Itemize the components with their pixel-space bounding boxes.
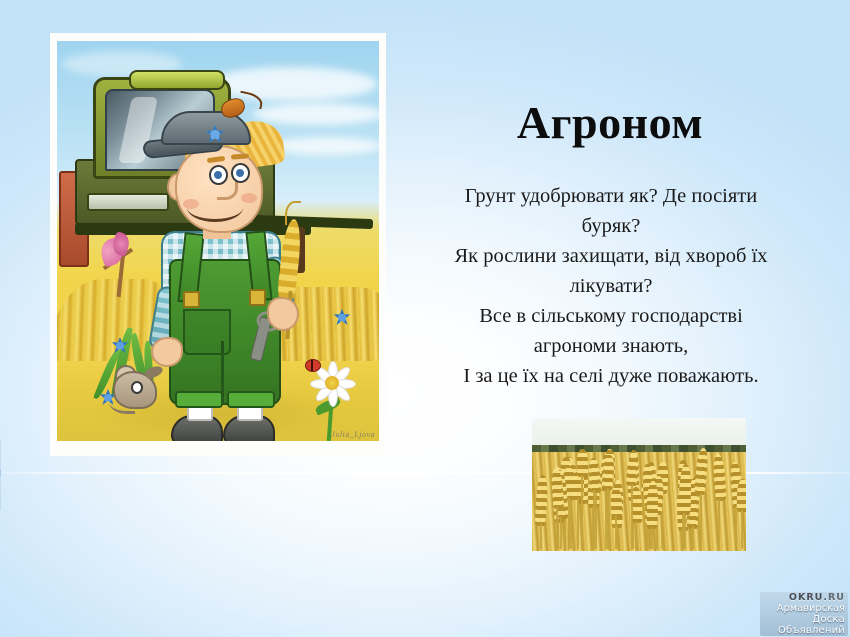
watermark-brand-main: OKRU [789, 592, 823, 603]
slide-canvas: Julia_Ljova Агроном Грунт удобрювати як?… [0, 0, 850, 637]
farmer-pocket [183, 309, 231, 355]
wheat-stem [718, 499, 720, 549]
poem-line: І за це їх на селі дуже поважають. [403, 361, 819, 391]
wheat-ear-icon [737, 479, 746, 512]
wheat-stem [568, 498, 570, 549]
mouse-eye [131, 381, 143, 394]
harvester-vent [87, 193, 169, 211]
illustration-canvas: Julia_Ljova [57, 41, 379, 441]
ladybug-icon [305, 359, 321, 372]
wheat-stem [700, 493, 702, 549]
farmer-eye-right [231, 163, 250, 183]
wheat-ear-icon [646, 481, 658, 529]
wheat-field-photo [532, 418, 746, 551]
poem-line: Як рослини захищати, від хвороб їх [403, 241, 819, 271]
wheat-stem [560, 517, 562, 549]
poem-text: Грунт удобрювати як? Де посіяти буряк? Я… [403, 181, 819, 391]
cloud-icon [253, 103, 379, 125]
page-title: Агроном [400, 96, 820, 150]
farmer-cheek-right [241, 193, 257, 203]
agronomist-illustration: Julia_Ljova [50, 33, 386, 456]
watermark: OKRU.RU Армавирская Доска Объявлений [760, 592, 848, 636]
farmer-buckle-right [249, 289, 266, 306]
poem-line: Все в сільському господарстві [403, 301, 819, 331]
poem-line: Грунт удобрювати як? Де посіяти [403, 181, 819, 211]
wheat-stem [577, 498, 579, 549]
wheat-stem [593, 490, 595, 549]
wheat-stem [556, 507, 558, 549]
farmer-cuff-left [175, 391, 223, 408]
wheat-stem [651, 527, 653, 549]
wheat-ear-icon [577, 449, 588, 477]
wheat-stem [741, 510, 743, 549]
wheat-stem [683, 513, 685, 549]
artist-signature: Julia_Ljova [331, 430, 375, 439]
wheat-stem [631, 484, 633, 549]
watermark-brand: OKRU.RU [760, 592, 845, 603]
farmer-eye-left [209, 165, 228, 185]
farmer-hand-right [267, 297, 299, 331]
wheat-stem [540, 524, 542, 549]
wheat-stem [692, 526, 694, 549]
divider-tick [0, 470, 7, 476]
watermark-city: Армавирская [760, 603, 845, 614]
farmer-cuff-right [227, 391, 275, 408]
poem-line: агрономи знають, [403, 331, 819, 361]
farmer-smile [187, 193, 243, 222]
farmer-buckle-left [183, 291, 200, 308]
poem-line: лікувати? [403, 271, 819, 301]
cloud-icon [207, 67, 377, 101]
farmer-cap [161, 111, 251, 145]
wheat-stem [615, 516, 617, 549]
harvester-roof [129, 70, 225, 90]
wheat-ear-icon [679, 473, 691, 515]
watermark-tagline: Доска Объявлений [760, 614, 845, 636]
wheat-stem [581, 475, 583, 549]
cloud-icon [272, 137, 379, 155]
wheat-stem [607, 488, 609, 549]
poem-line: буряк? [403, 211, 819, 241]
wheat-stem [595, 491, 597, 549]
farmer-hand-left [151, 337, 183, 367]
watermark-brand-suffix: .RU [823, 592, 845, 603]
wheat-stem [735, 506, 737, 549]
photo-sky [532, 418, 746, 448]
wheat-stem [635, 521, 637, 549]
